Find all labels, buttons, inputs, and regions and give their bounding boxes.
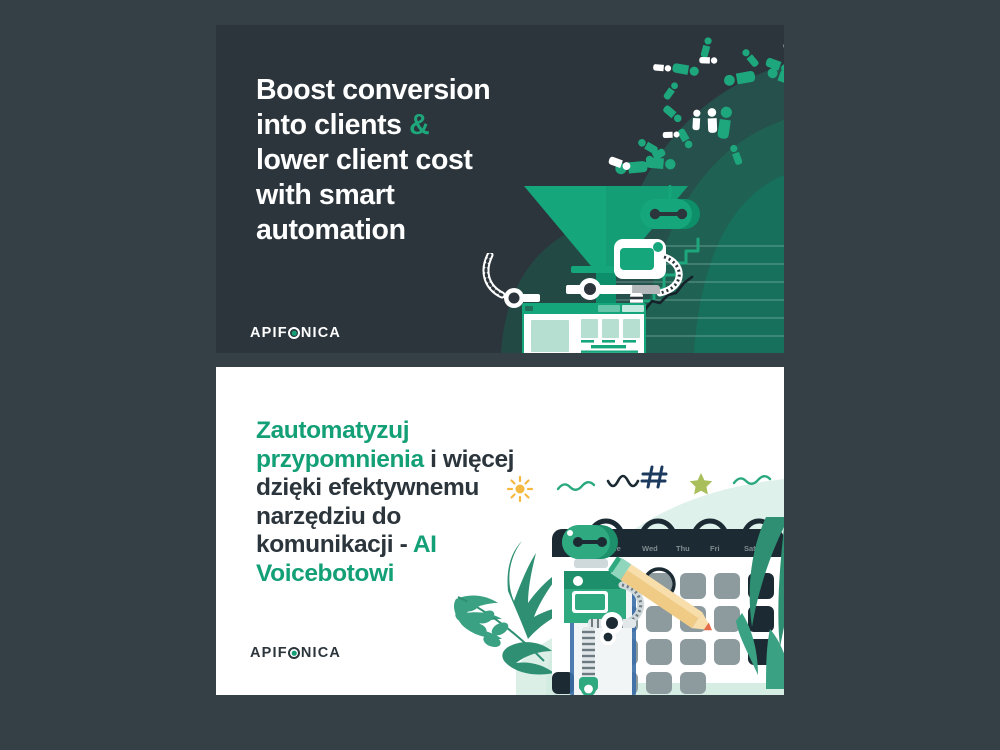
logo-suffix: NICA (301, 645, 341, 661)
calendar-day-thu: Thu (676, 544, 710, 553)
logo-suffix: NICA (301, 325, 341, 341)
zigzag-doodle (608, 476, 638, 486)
apifonica-logo-dark[interactable]: APIFNICA (250, 325, 341, 341)
banner-dark[interactable]: Boost conversion into clients & lower cl… (216, 25, 784, 353)
hash-doodle (642, 467, 666, 487)
headline-pl-line-1: Zautomatyzuj (256, 417, 586, 446)
tropical-leaves-right (736, 517, 784, 695)
headline-pl-line-6: Voicebotowi (256, 560, 586, 589)
light-banner-headline: Zautomatyzuj przypomnienia i więcej dzię… (256, 417, 586, 588)
headline-pl-line-5: komunikacji - AI (256, 531, 586, 560)
apifonica-logo-light[interactable]: APIFNICA (250, 645, 341, 661)
robot-head-icon (636, 183, 706, 235)
banner-light-content: Mon Tue Wed Thu Fri Sat (216, 367, 784, 695)
logo-o-icon (288, 647, 300, 659)
headline-pl-ai-accent: AI (413, 531, 437, 558)
headline-line-4: with smart (256, 178, 556, 213)
headline-pl-line-2-green: przypomnienia (256, 446, 424, 473)
headline-pl-line-2: przypomnienia i więcej (256, 446, 586, 475)
logo-prefix: APIF (250, 645, 288, 661)
screenshot-canvas: Boost conversion into clients & lower cl… (0, 0, 1000, 750)
headline-line-3: lower client cost (256, 143, 556, 178)
logo-prefix: APIF (250, 325, 288, 341)
star-doodle (690, 473, 712, 495)
ampersand-accent: & (409, 109, 429, 141)
headline-pl-line-6-text: Voicebotowi (256, 560, 394, 587)
headline-line-5: automation (256, 213, 556, 248)
headline-line-2: into clients & (256, 108, 556, 143)
headline-pl-line-5-dark: komunikacji - (256, 531, 413, 558)
headline-pl-line-3: dzięki efektywnemu (256, 474, 586, 503)
headline-pl-line-1-text: Zautomatyzuj (256, 417, 409, 444)
pencil-icon (600, 555, 730, 641)
browser-dashboard-mockup (522, 303, 646, 353)
banner-dark-content: Boost conversion into clients & lower cl… (216, 25, 784, 353)
headline-line-1: Boost conversion (256, 73, 556, 108)
banner-light[interactable]: Mon Tue Wed Thu Fri Sat (216, 367, 784, 695)
logo-o-icon (288, 327, 300, 339)
headline-pl-line-4: narzędziu do (256, 503, 586, 532)
headline-pl-line-2-dark: i więcej (424, 446, 514, 473)
dark-banner-headline: Boost conversion into clients & lower cl… (256, 73, 556, 248)
headline-line-2-text: into clients (256, 109, 409, 141)
squiggle-doodle-2 (734, 476, 770, 484)
